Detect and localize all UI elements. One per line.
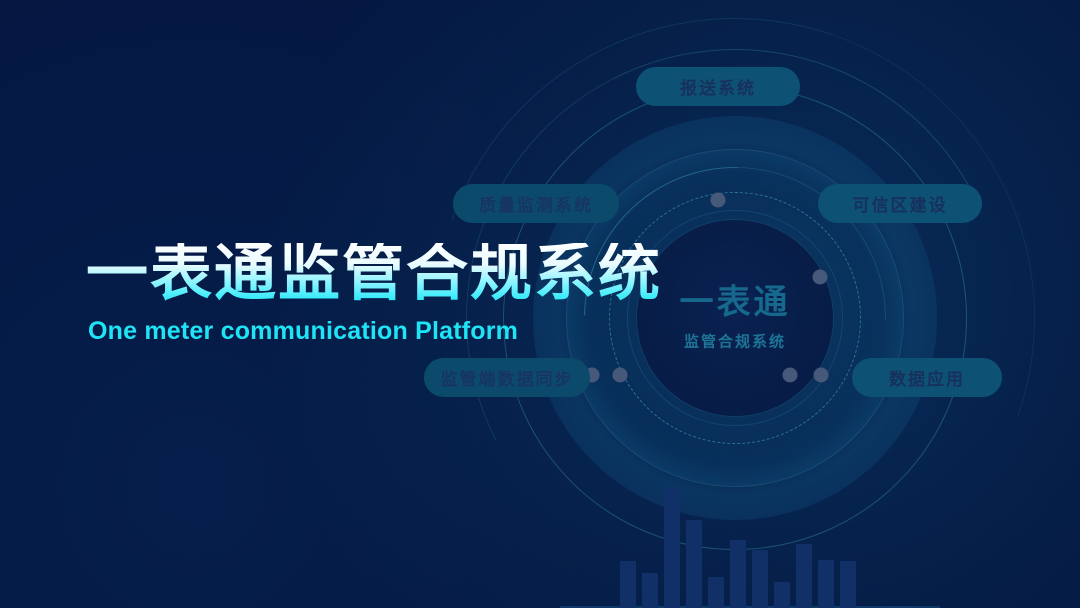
node-pill-label: 质量监测系统: [479, 191, 593, 216]
chart-bar: [708, 577, 724, 608]
chart-bar: [686, 520, 702, 608]
chart-bar: [620, 561, 636, 608]
page-subtitle: One meter communication Platform: [88, 317, 666, 346]
node-dot-dataapp: [814, 368, 829, 383]
chart-bar: [774, 582, 790, 608]
headline-group: 一表通监管合规系统 One meter communication Platfo…: [86, 243, 666, 346]
chart-bar: [818, 560, 834, 608]
slide-canvas: 一表通 监管合规系统 报送系统 质量监测系统 可信区建设 监管端数据同步 数据应…: [0, 0, 1080, 608]
node-pill-label: 监管端数据同步: [441, 365, 574, 390]
chart-bar: [840, 561, 856, 608]
node-pill-baosong[interactable]: 报送系统: [636, 67, 800, 106]
node-pill-label: 数据应用: [889, 365, 965, 390]
chart-bar: [664, 487, 680, 608]
chart-bar: [796, 544, 812, 608]
core-label-group: 一表通 监管合规系统: [680, 284, 791, 351]
node-dot-dataapp-inner: [783, 368, 798, 383]
chart-bar: [730, 540, 746, 608]
chart-bar: [752, 550, 768, 608]
core-title: 一表通: [680, 284, 791, 321]
node-pill-zhiliang[interactable]: 质量监测系统: [453, 184, 619, 223]
node-dot-sync: [613, 368, 628, 383]
background-bar-chart: [620, 478, 856, 608]
node-pill-label: 报送系统: [680, 74, 756, 99]
page-title: 一表通监管合规系统: [86, 243, 666, 305]
node-pill-tongbu[interactable]: 监管端数据同步: [424, 358, 590, 397]
node-dot-trustzone: [813, 270, 828, 285]
chart-bar: [642, 573, 658, 608]
node-pill-kexinqu[interactable]: 可信区建设: [818, 184, 982, 223]
node-pill-shuju[interactable]: 数据应用: [852, 358, 1002, 397]
node-dot-quality: [711, 193, 726, 208]
core-subtitle: 监管合规系统: [680, 331, 791, 352]
node-pill-label: 可信区建设: [853, 191, 948, 216]
